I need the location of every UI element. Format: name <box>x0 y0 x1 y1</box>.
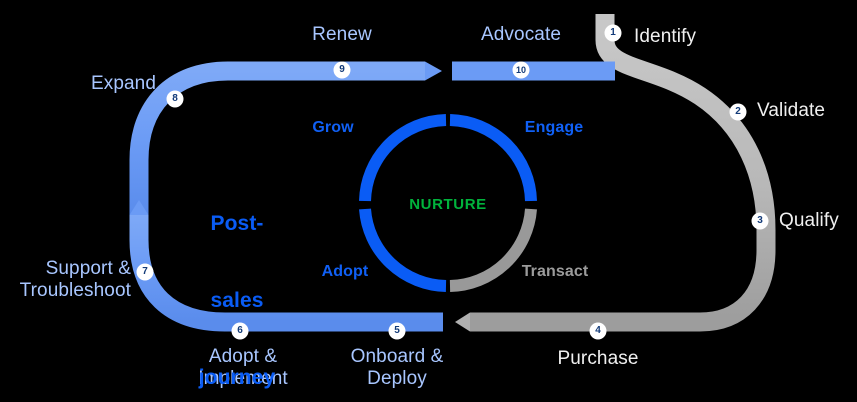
step-marker-3[interactable] <box>752 213 769 230</box>
stage-label-identify: Identify <box>634 26 696 48</box>
step-marker-5[interactable] <box>389 323 406 340</box>
step-marker-9[interactable] <box>334 62 351 79</box>
stage-label-renew: Renew <box>312 24 372 46</box>
step-marker-7[interactable] <box>137 264 154 281</box>
step-marker-4[interactable] <box>590 323 607 340</box>
journey-line-2: sales <box>199 288 276 314</box>
postsales-path-upper <box>139 71 425 215</box>
stage-label-validate: Validate <box>757 100 825 122</box>
stage-label-expand: Expand <box>91 73 156 95</box>
ring-label-engage: Engage <box>525 119 583 138</box>
ring-label-transact: Transact <box>522 263 589 282</box>
stage-label-qualify: Qualify <box>779 210 839 232</box>
stage-label-onboard-deploy: Onboard & Deploy <box>351 346 444 390</box>
step-marker-10[interactable] <box>513 62 530 79</box>
postsales-advocate-bar <box>452 62 615 81</box>
journey-line-1: Post- <box>199 211 276 237</box>
postsales-arrowhead-top <box>425 62 442 81</box>
nurture-center-label: NURTURE <box>409 196 487 213</box>
step-marker-2[interactable] <box>730 104 747 121</box>
ring-segment-transact <box>450 209 531 286</box>
step-marker-8[interactable] <box>167 91 184 108</box>
presales-arrowhead <box>455 313 470 332</box>
ring-segment-grow <box>365 120 446 201</box>
ring-segment-engage <box>450 120 531 201</box>
stage-label-support-troubleshoot: Support & Troubleshoot <box>20 258 131 302</box>
presales-start-cap <box>596 14 615 20</box>
step-marker-1[interactable] <box>605 25 622 42</box>
stage-label-purchase: Purchase <box>557 348 638 370</box>
ring-segment-adopt <box>365 209 446 286</box>
diagram-canvas: 1 2 3 4 5 6 7 8 9 10 Identify Validate Q… <box>0 0 857 402</box>
post-sales-journey-label: Post- sales journey <box>199 160 276 402</box>
journey-line-3: journey <box>199 365 276 391</box>
ring-label-adopt: Adopt <box>322 263 369 282</box>
stage-label-advocate: Advocate <box>481 24 561 46</box>
ring-label-grow: Grow <box>312 119 353 138</box>
